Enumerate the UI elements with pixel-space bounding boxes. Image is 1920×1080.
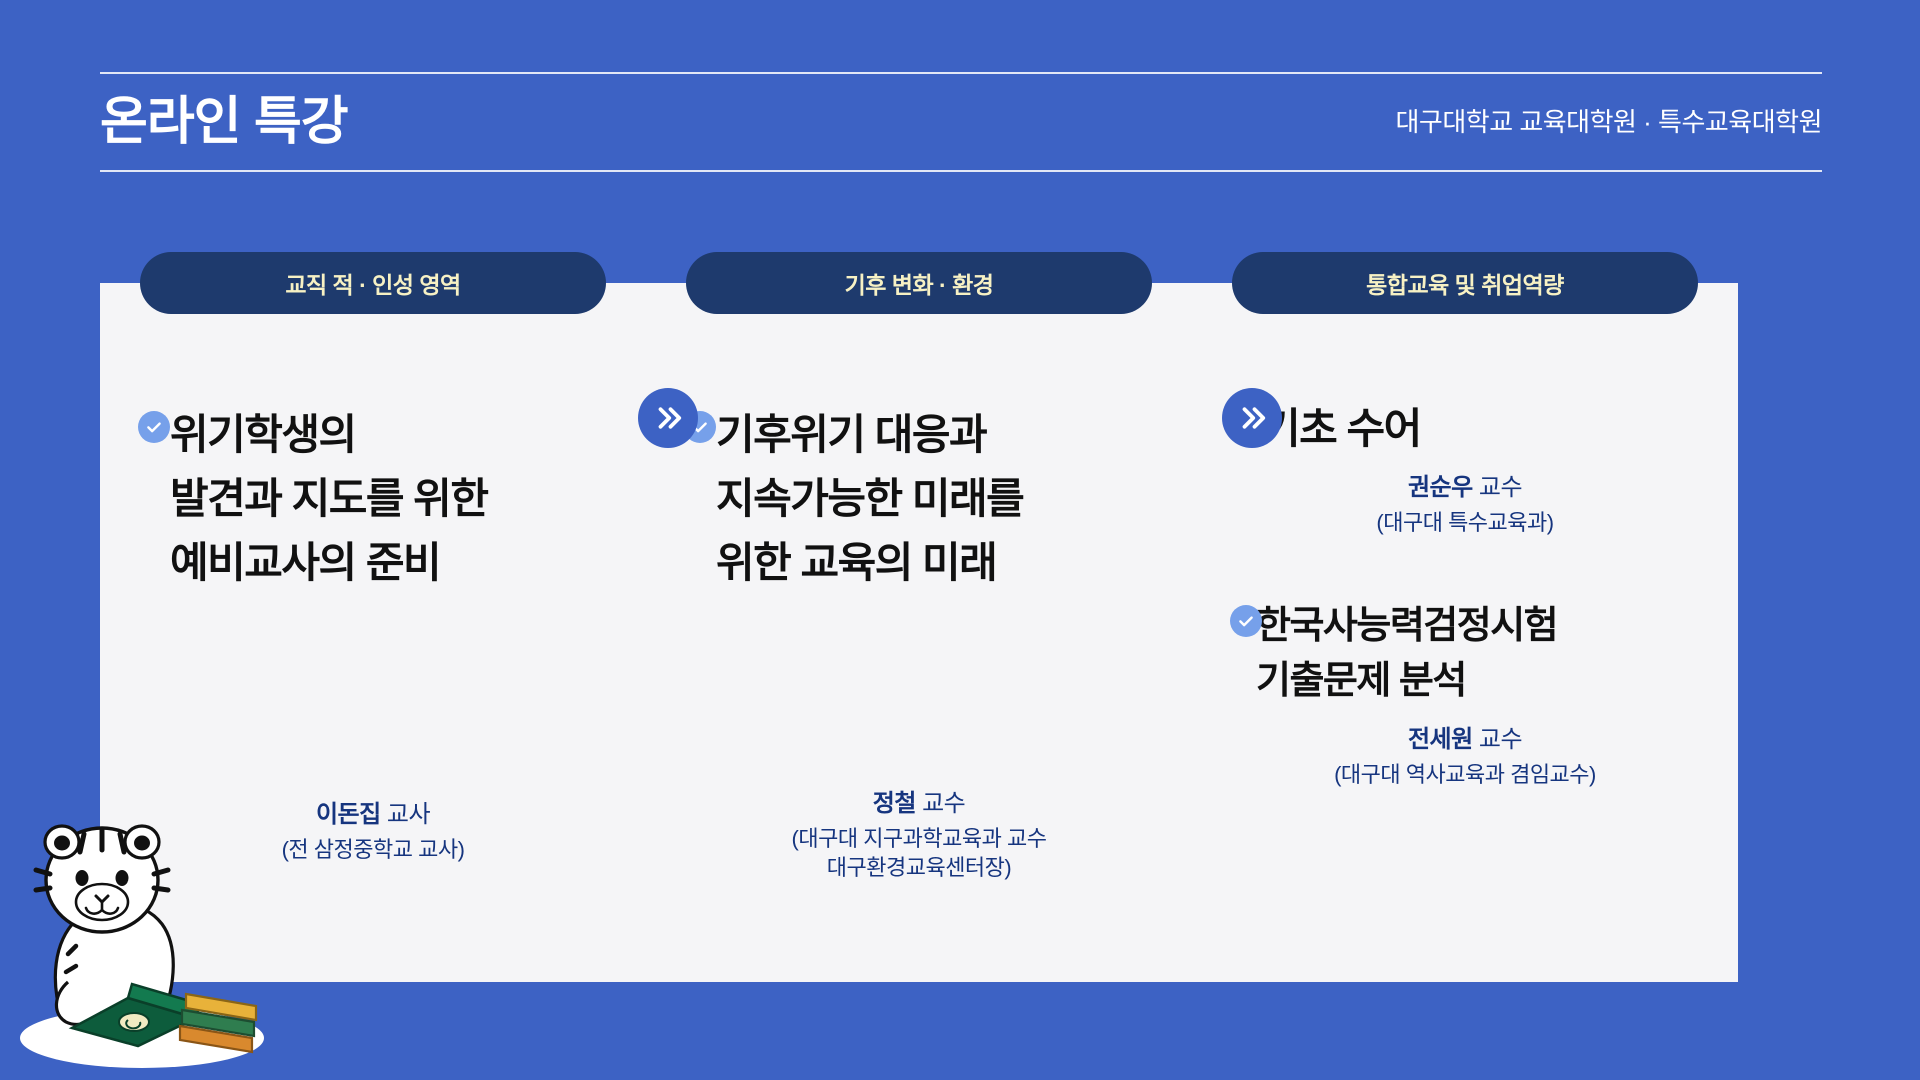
- presenter-affiliation: (대구대 지구과학교육과 교수: [680, 824, 1158, 853]
- card-pill-3: 통합교육 및 취업역량: [1232, 252, 1698, 314]
- cards-row: 교직 적 · 인성 영역 위기학생의 발견과 지도를 위한 예비교사의 준비: [100, 252, 1822, 982]
- double-chevron-right-icon: [1222, 388, 1282, 448]
- lecture-card-2[interactable]: 기후위기 대응과 지속가능한 미래를 위한 교육의 미래 정철 교수 (대구대 …: [646, 283, 1192, 982]
- lecture-entry: 기초 수어: [1226, 397, 1704, 461]
- lecture-title-line: 지속가능한 미래를: [716, 467, 1158, 531]
- lecture-title-line: 기후위기 대응과: [716, 403, 1158, 467]
- lecture-title-line: 한국사능력검정시험: [1256, 599, 1704, 654]
- lecture-entry: 한국사능력검정시험 기출문제 분석: [1226, 599, 1704, 709]
- lecture-title-line: 예비교사의 준비: [170, 531, 612, 595]
- presenter-affiliation: (대구대 역사교육과 겸임교수): [1226, 760, 1704, 789]
- card-pill-1: 교직 적 · 인성 영역: [140, 252, 606, 314]
- check-circle-icon: [1230, 605, 1262, 637]
- presenter-name: 권순우 교수: [1226, 471, 1704, 506]
- card-pill-label-2: 기후 변화 · 환경: [845, 266, 994, 300]
- lecture-title-line: 기출문제 분석: [1256, 654, 1704, 709]
- lecture-entry: 위기학생의 발견과 지도를 위한 예비교사의 준비: [134, 403, 612, 594]
- presenter-person-name: 이돈집: [316, 801, 381, 828]
- presenter-name: 전세원 교수: [1226, 723, 1704, 758]
- check-circle-icon: [138, 411, 170, 443]
- presenter-person-name: 전세원: [1408, 726, 1473, 753]
- card-entries-1: 위기학생의 발견과 지도를 위한 예비교사의 준비: [134, 353, 612, 798]
- lecture-title-line: 위한 교육의 미래: [716, 531, 1158, 595]
- presenter-affiliation: (대구대 특수교육과): [1226, 508, 1704, 537]
- card-pill-label-3: 통합교육 및 취업역량: [1366, 266, 1564, 300]
- poster-header: 온라인 특강 대구대학교 교육대학원 · 특수교육대학원: [100, 72, 1822, 172]
- card-entries-3: 기초 수어 권순우 교수 (대구대 특수교육과) 한국사능력검정시험 기출문: [1226, 353, 1704, 950]
- double-chevron-right-icon: [638, 388, 698, 448]
- presenter-affiliation: 대구환경교육센터장): [680, 853, 1158, 882]
- tiger-mascot-icon: [10, 770, 280, 1070]
- poster-root: 온라인 특강 대구대학교 교육대학원 · 특수교육대학원 교직 적 · 인성 영…: [0, 0, 1920, 1080]
- presenter-role-label: 교수: [922, 790, 965, 817]
- presenter-person-name: 권순우: [1408, 474, 1473, 501]
- presenter-block-2: 정철 교수 (대구대 지구과학교육과 교수 대구환경교육센터장): [680, 787, 1158, 950]
- card-entries-2: 기후위기 대응과 지속가능한 미래를 위한 교육의 미래: [680, 353, 1158, 787]
- presenter-role-label: 교사: [387, 801, 430, 828]
- presenter-block-3a: 권순우 교수 (대구대 특수교육과): [1226, 471, 1704, 537]
- lecture-title-line: 발견과 지도를 위한: [170, 467, 612, 531]
- page-title: 온라인 특강: [100, 96, 348, 148]
- lecture-entry: 기후위기 대응과 지속가능한 미래를 위한 교육의 미래: [680, 403, 1158, 594]
- lecture-title-line: 위기학생의: [170, 403, 612, 467]
- card-pill-2: 기후 변화 · 환경: [686, 252, 1152, 314]
- lecture-card-3[interactable]: 기초 수어 권순우 교수 (대구대 특수교육과) 한국사능력검정시험 기출문: [1192, 283, 1738, 982]
- presenter-role-label: 교수: [1479, 474, 1522, 501]
- card-pill-label-1: 교직 적 · 인성 영역: [285, 266, 460, 300]
- header-subtitle: 대구대학교 교육대학원 · 특수교육대학원: [1396, 109, 1822, 135]
- presenter-person-name: 정철: [873, 790, 916, 817]
- presenter-name: 정철 교수: [680, 787, 1158, 822]
- card-wrapper-2: 기후 변화 · 환경 기후위기 대응과 지속가능한 미래를 위한 교육의 미래: [646, 252, 1192, 982]
- card-wrapper-3: 통합교육 및 취업역량 기초 수어 권순우 교수 (대구대 특수교육과): [1192, 252, 1738, 982]
- presenter-block-3b: 전세원 교수 (대구대 역사교육과 겸임교수): [1226, 723, 1704, 789]
- lecture-title-line: 기초 수어: [1262, 397, 1704, 461]
- presenter-role-label: 교수: [1479, 726, 1522, 753]
